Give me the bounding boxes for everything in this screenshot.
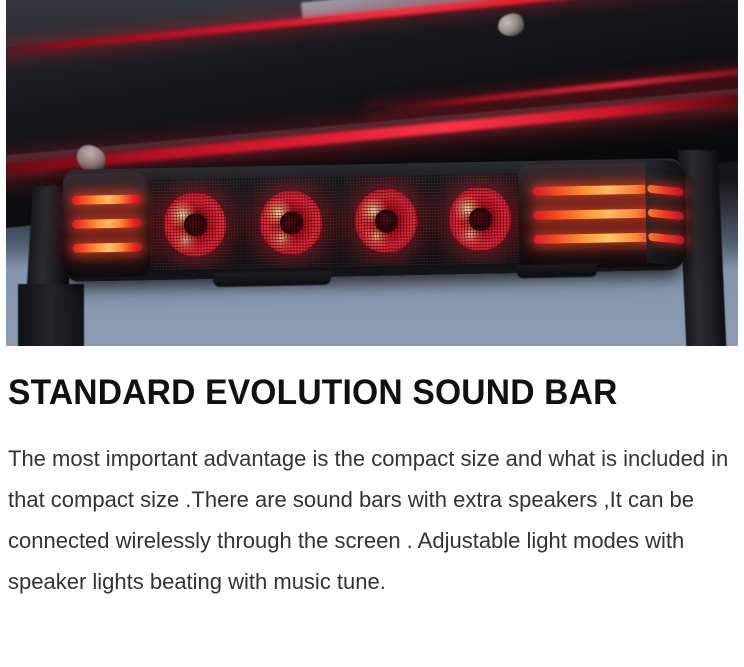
endcap-left: [63, 172, 149, 278]
product-title: STANDARD EVOLUTION SOUND BAR: [8, 372, 707, 414]
product-card: STANDARD EVOLUTION SOUND BAR The most im…: [0, 0, 744, 667]
product-image: [6, 0, 738, 346]
led-side-1: [647, 185, 683, 197]
mount-bracket-right: [517, 264, 597, 279]
led-side-2: [648, 209, 684, 221]
speaker-driver-4: [448, 186, 511, 251]
led-lightbar-left-3: [72, 242, 142, 252]
led-side-3: [648, 233, 684, 245]
desk-foot-left: [18, 284, 84, 346]
speaker-grille: [149, 173, 523, 270]
product-description: The most important advantage is the comp…: [8, 438, 736, 602]
soundbar-unit: [63, 158, 685, 292]
speaker-driver-3: [354, 188, 417, 253]
speaker-driver-1: [163, 192, 226, 257]
speaker-driver-2: [259, 190, 322, 255]
mount-bracket-left: [213, 271, 331, 287]
endcap-right-side-facet: [645, 158, 687, 266]
led-lightbar-left-2: [72, 218, 142, 228]
soundbar-photo-scene: [6, 0, 738, 346]
led-lightbar-left-1: [71, 194, 141, 204]
product-text-block: STANDARD EVOLUTION SOUND BAR The most im…: [0, 346, 744, 602]
